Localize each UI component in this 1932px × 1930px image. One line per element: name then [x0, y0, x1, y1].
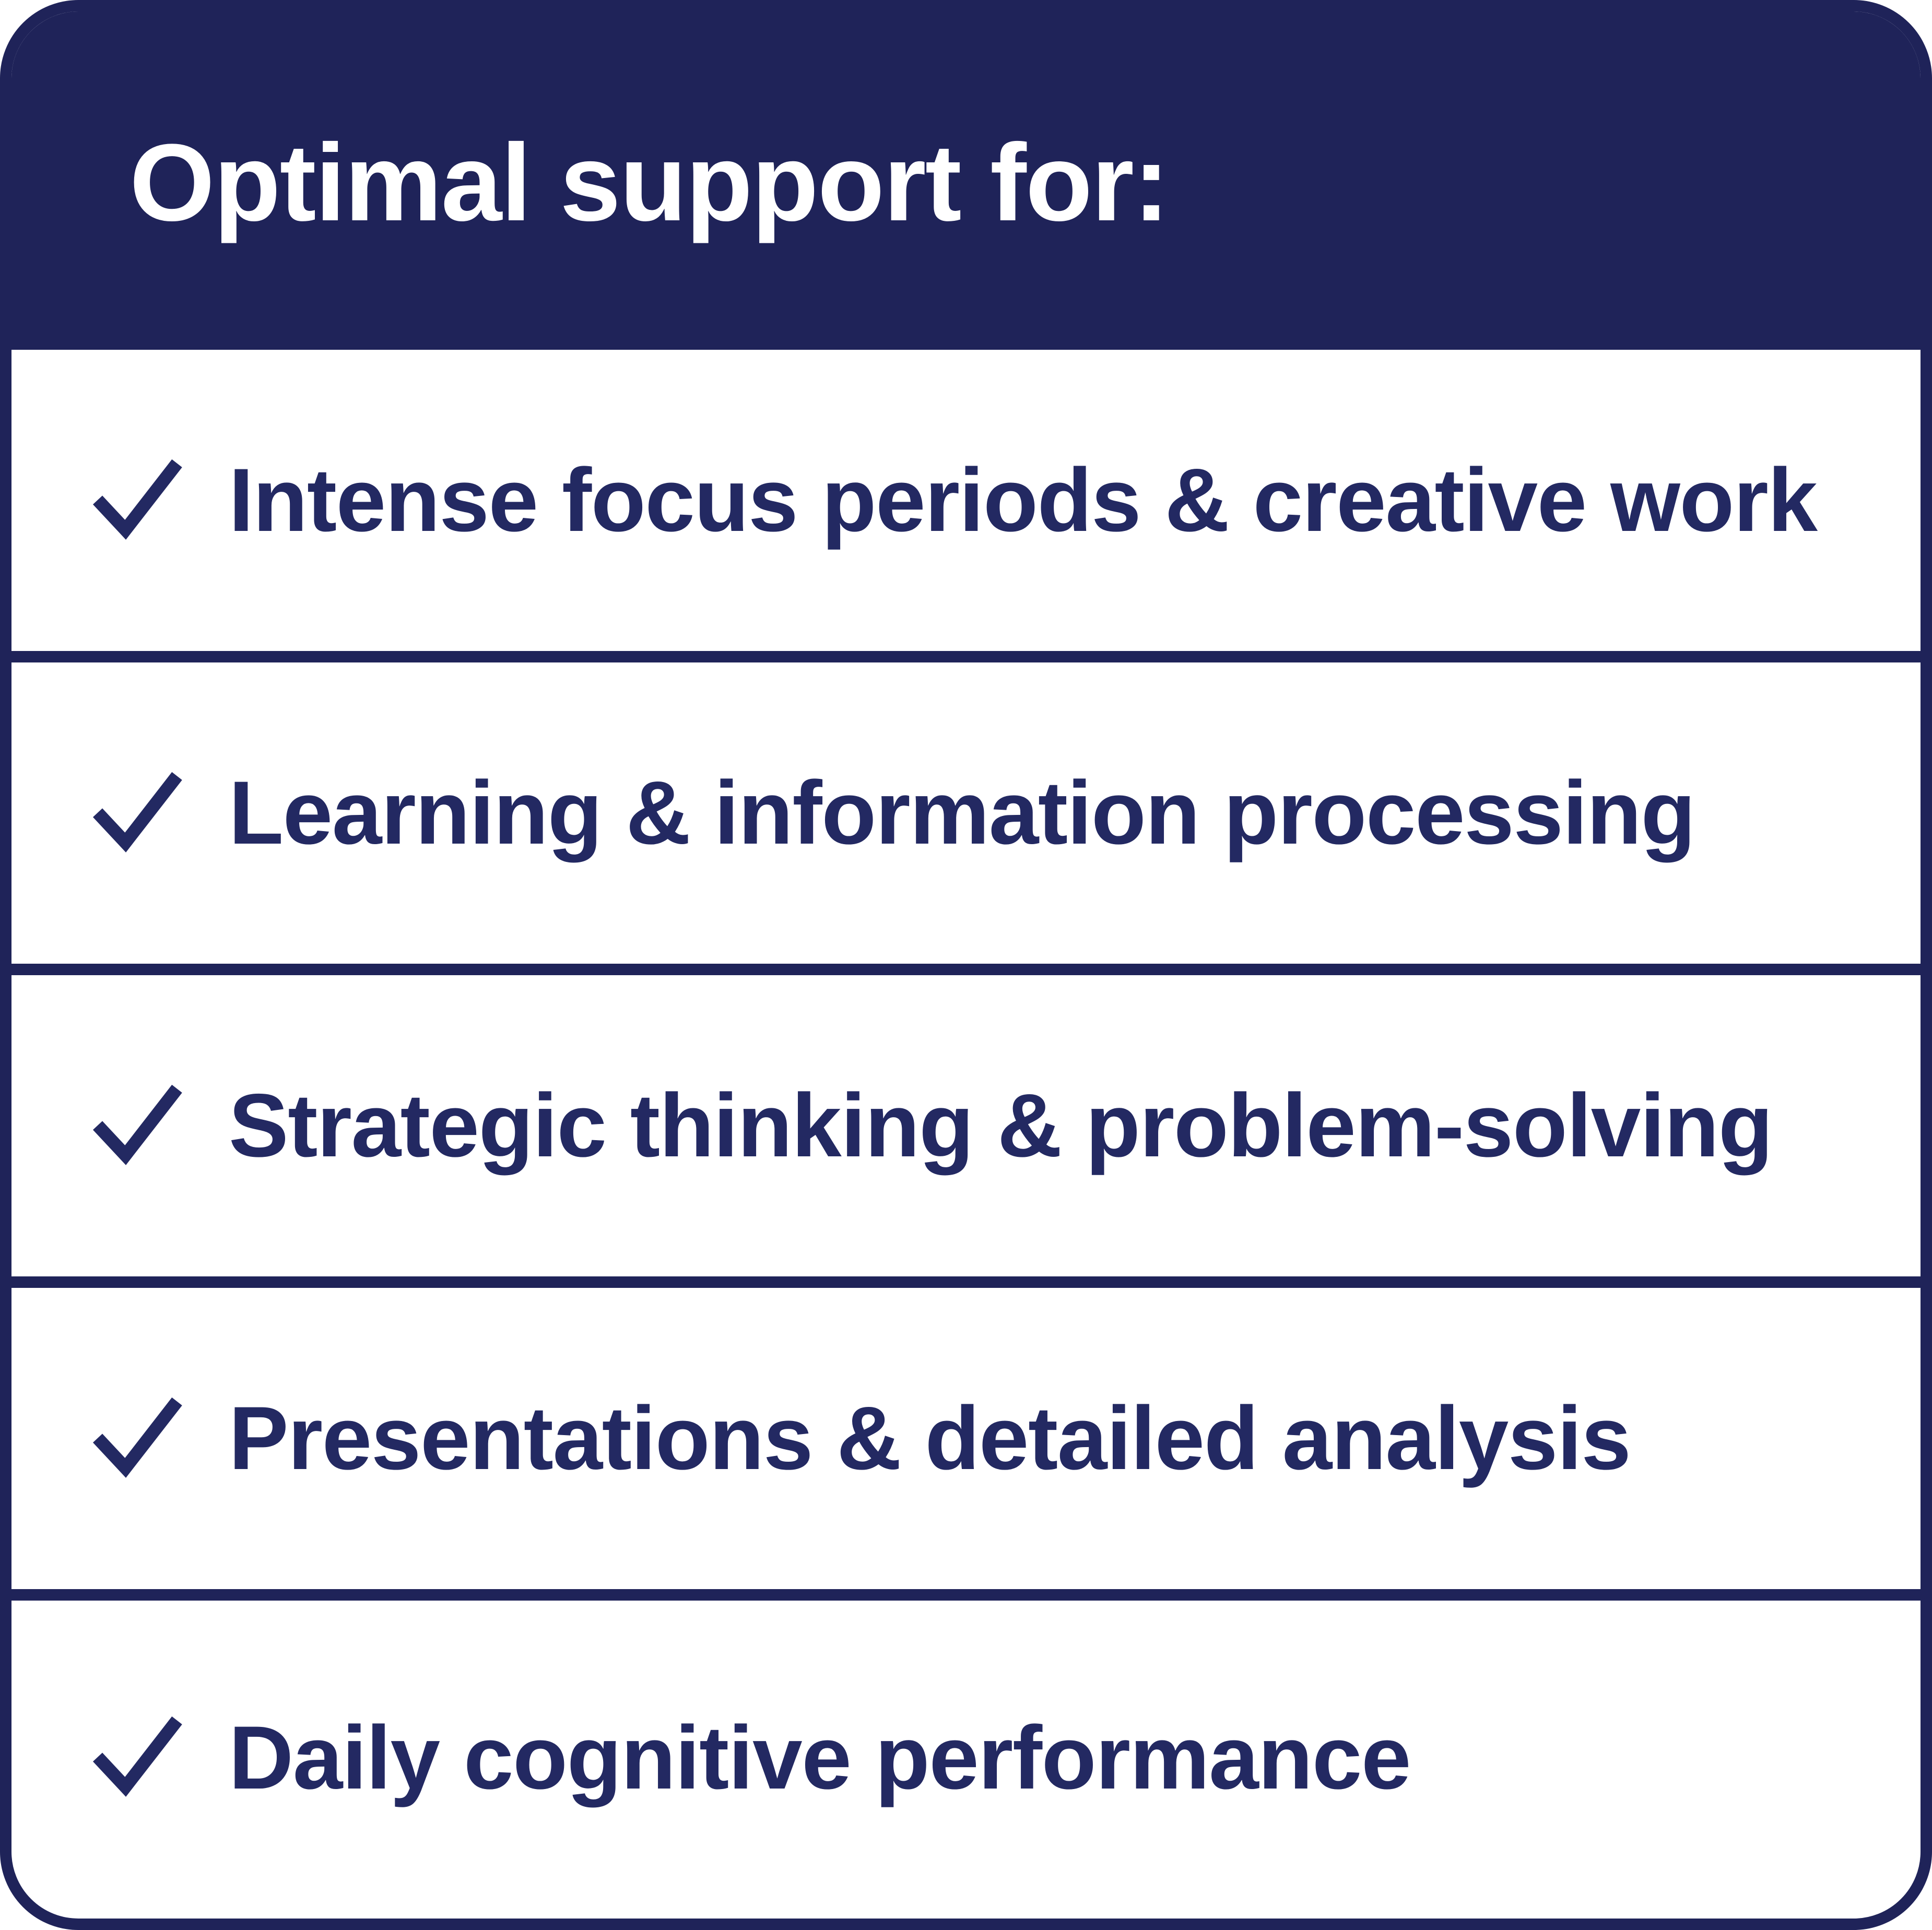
check-icon [88, 1074, 187, 1173]
list-item-label: Intense focus periods & creative work [229, 453, 1817, 548]
check-icon [88, 448, 187, 548]
list-item: Strategic thinking & problem-solving [0, 975, 1932, 1288]
card-header: Optimal support for: [0, 0, 1932, 350]
benefits-list: Intense focus periods & creative work Le… [0, 350, 1932, 1930]
list-item: Intense focus periods & creative work [0, 350, 1932, 662]
check-icon [88, 1387, 187, 1486]
page-title: Optimal support for: [0, 112, 1169, 238]
list-item-label: Daily cognitive performance [229, 1711, 1410, 1805]
optimal-support-card: Optimal support for: Intense focus perio… [0, 0, 1932, 1930]
list-item: Learning & information processing [0, 662, 1932, 975]
check-icon [88, 1706, 187, 1805]
list-item-label: Learning & information processing [229, 766, 1695, 860]
check-icon [88, 761, 187, 860]
list-item: Presentations & detailed analysis [0, 1288, 1932, 1601]
list-item: Daily cognitive performance [0, 1601, 1932, 1915]
list-item-label: Presentations & detailed analysis [229, 1391, 1630, 1486]
list-item-label: Strategic thinking & problem-solving [229, 1079, 1772, 1173]
